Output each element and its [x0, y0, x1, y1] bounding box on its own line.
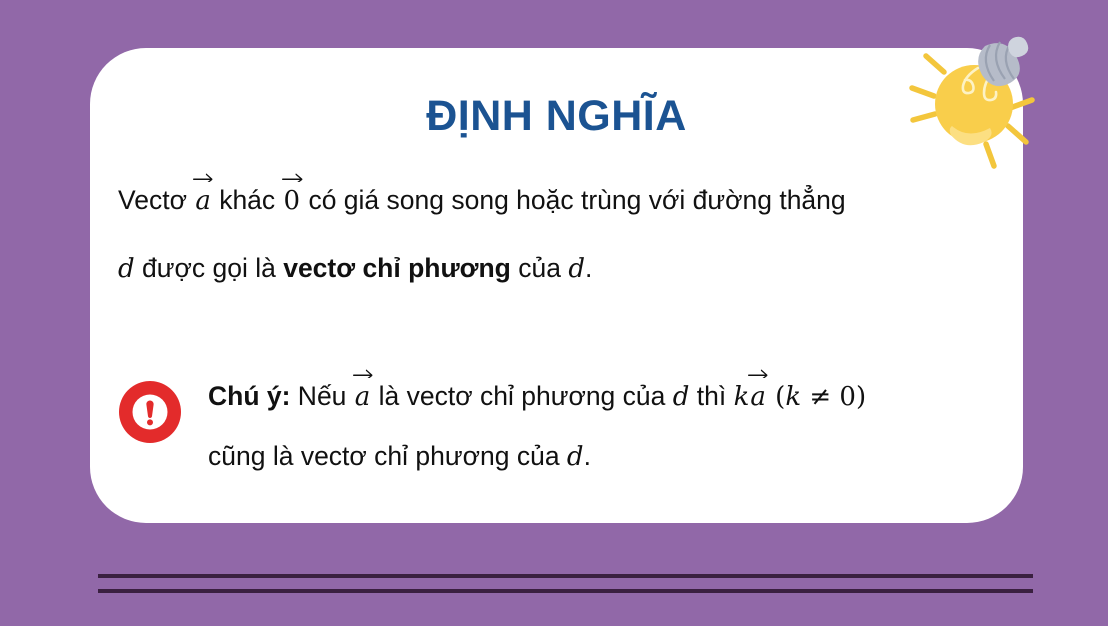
vector-a-1: a	[194, 183, 212, 220]
condition-zero-symbol: 0	[839, 382, 856, 412]
definition-body: Vectơ a khác 0 có giá song song hoặc trù…	[118, 182, 1018, 288]
definition-text-1a: Vectơ	[118, 185, 194, 215]
vector-zero-1: 0	[283, 183, 302, 220]
over-arrow-icon	[282, 172, 304, 183]
definition-keyword: vectơ chỉ phương	[283, 253, 511, 283]
over-arrow-icon	[193, 172, 214, 183]
note-d-symbol-2: d	[567, 442, 584, 472]
over-arrow-icon	[353, 368, 374, 379]
note-text-1d: (	[767, 382, 785, 412]
note-text-2b: .	[584, 441, 591, 471]
slide-canvas: ĐỊNH NGHĨA Vectơ a khác 0 có giá song so…	[0, 0, 1108, 626]
note-text-1c: thì	[689, 381, 733, 411]
line-d-symbol-2: d	[568, 254, 585, 284]
note-text-1e: )	[856, 382, 866, 412]
note-line-1: Chú ý: Nếu a là vectơ chỉ phương của d t…	[208, 378, 1018, 416]
note-text-2a: cũng là vectơ chỉ phương của	[208, 441, 567, 471]
vector-a-1-symbol: a	[195, 186, 211, 216]
definition-text-1c: có giá song song hoặc trùng với đường th…	[301, 185, 846, 215]
definition-line-2: d được gọi là vectơ chỉ phương của d.	[118, 250, 1018, 288]
note-label: Chú ý:	[208, 381, 290, 411]
note-text-1b: là vectơ chỉ phương của	[371, 381, 672, 411]
note-block: Chú ý: Nếu a là vectơ chỉ phương của d t…	[118, 378, 1018, 476]
page-title: ĐỊNH NGHĨA	[90, 92, 1023, 141]
line-d-symbol-1: d	[118, 254, 135, 284]
exclamation-circle-icon	[118, 380, 182, 444]
decorative-rule-bottom	[98, 589, 1033, 593]
note-d-symbol-1: d	[673, 382, 690, 412]
condition-k-symbol: k	[785, 382, 801, 412]
definition-text-1b: khác	[212, 185, 283, 215]
definition-text-2b: của	[511, 253, 568, 283]
decorative-rule-top	[98, 574, 1033, 578]
lightbulb-base	[978, 37, 1028, 86]
definition-text-2c: .	[585, 253, 592, 283]
vector-a-3: a	[749, 379, 767, 416]
not-equal-icon: ≠	[801, 382, 839, 412]
vector-zero-1-symbol: 0	[284, 186, 301, 216]
definition-line-1: Vectơ a khác 0 có giá song song hoặc trù…	[118, 182, 1018, 220]
definition-card: ĐỊNH NGHĨA Vectơ a khác 0 có giá song so…	[90, 48, 1023, 523]
vector-a-3-symbol: a	[750, 382, 766, 412]
vector-a-2: a	[354, 379, 372, 416]
note-text-1a: Nếu	[290, 381, 353, 411]
note-line-2: cũng là vectơ chỉ phương của d.	[208, 438, 1018, 476]
vector-a-2-symbol: a	[355, 382, 371, 412]
scalar-k-symbol: k	[734, 382, 750, 412]
over-arrow-icon	[748, 368, 769, 379]
lightbulb-icon	[886, 26, 1066, 186]
note-text: Chú ý: Nếu a là vectơ chỉ phương của d t…	[208, 378, 1018, 476]
definition-text-2a: được gọi là	[135, 253, 284, 283]
